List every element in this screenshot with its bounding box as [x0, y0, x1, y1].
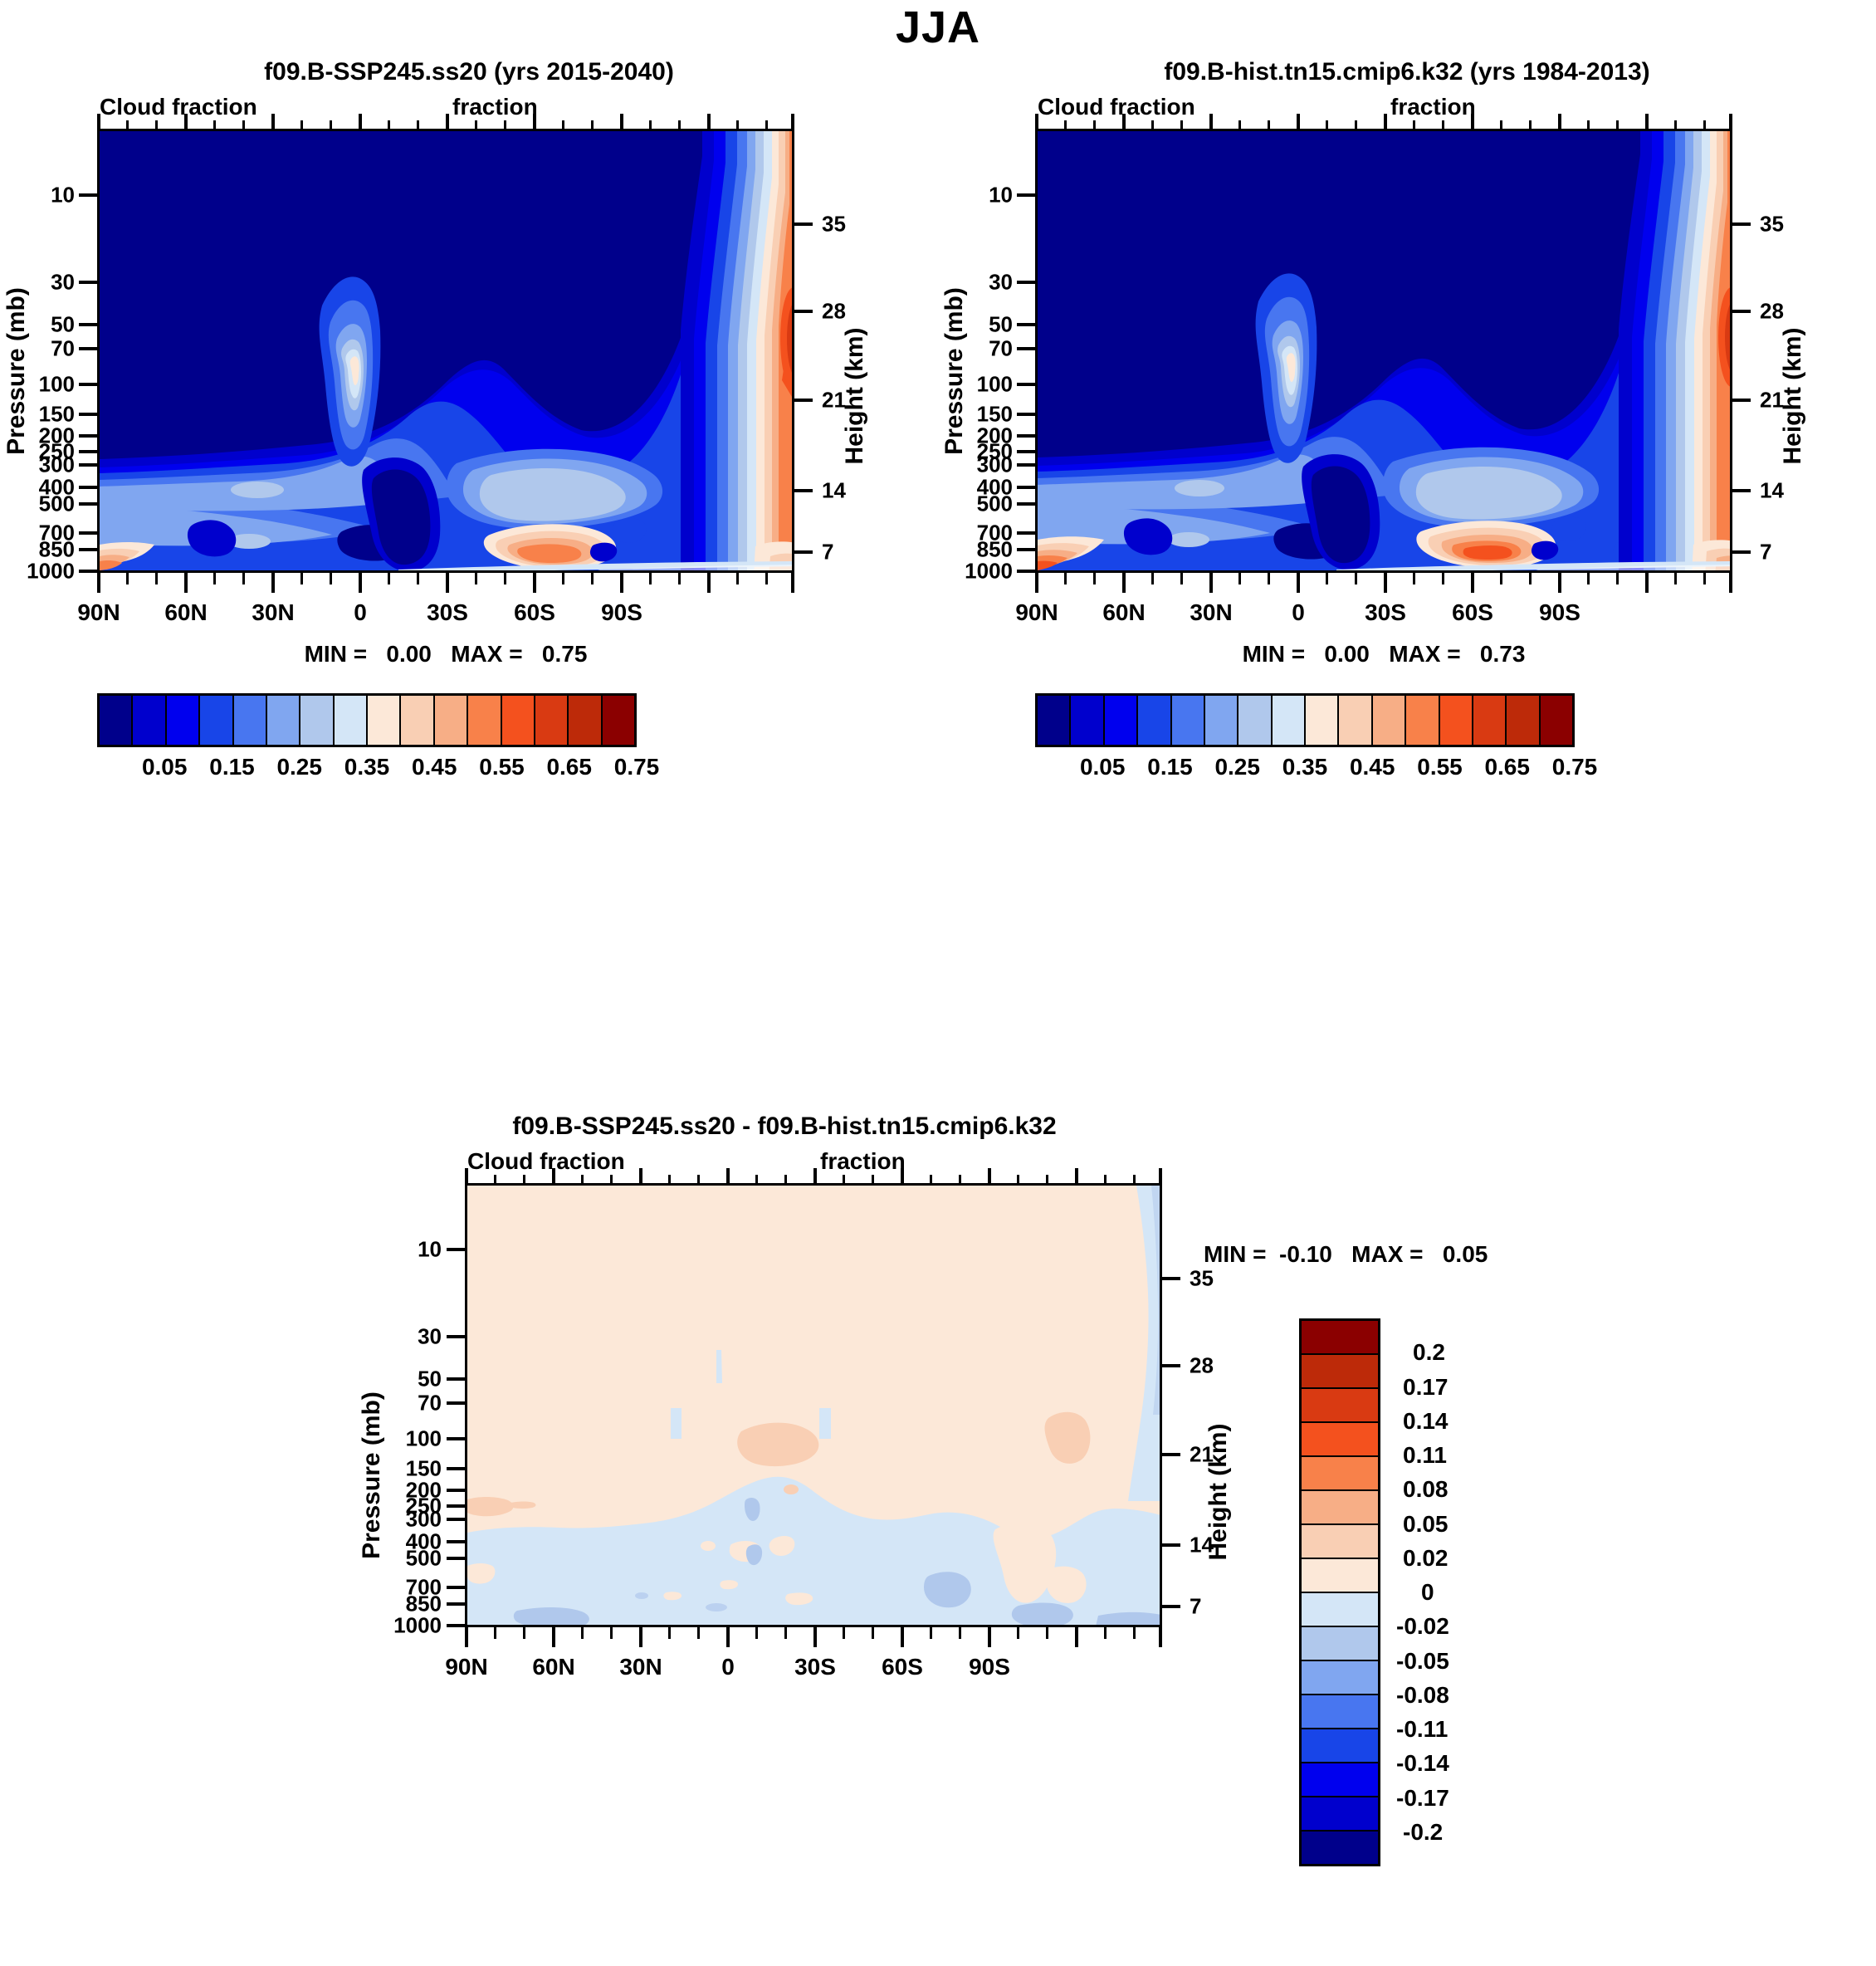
panel-difference-subtitle-units: fraction — [820, 1148, 906, 1175]
panel-right-plot[interactable] — [1035, 129, 1732, 573]
ytick-height-28: 28 — [1190, 1353, 1214, 1379]
cbar-label: 0.45 — [1350, 754, 1395, 780]
panel-difference-ylabel-height: Height (km) — [1204, 1367, 1233, 1616]
cbar-label: 0.15 — [1147, 754, 1193, 780]
cbar-label: 0.05 — [1080, 754, 1126, 780]
cbar-label: 0.65 — [1484, 754, 1530, 780]
ytick-height-14: 14 — [1760, 478, 1784, 504]
panel-difference-minmax: MIN = -0.10 MAX = 0.05 — [1204, 1241, 1668, 1268]
colorbar-cell — [1302, 1661, 1378, 1695]
ytick-height-21: 21 — [1190, 1442, 1214, 1468]
ytick-pressure-30: 30 — [940, 270, 1013, 296]
xtick-30S: 30S — [1365, 599, 1406, 626]
colorbar-cell — [468, 696, 501, 745]
panel-left-colorbar[interactable] — [97, 693, 637, 747]
cbar-label: 0.35 — [344, 754, 390, 780]
colorbar-cell — [569, 696, 602, 745]
ytick-pressure-70: 70 — [940, 336, 1013, 362]
colorbar-cell — [167, 696, 200, 745]
panel-difference-colorbar-labels: 0.2 0.17 0.14 0.11 0.08 0.05 0.02 0 -0.0… — [1395, 1318, 1527, 1866]
ytick-height-14: 14 — [1190, 1533, 1214, 1558]
panel-left-subtitle-variable: Cloud fraction — [100, 94, 257, 120]
ytick-pressure-1000: 1000 — [2, 559, 75, 584]
colorbar-cell — [335, 696, 368, 745]
colorbar-cell — [1038, 696, 1071, 745]
ytick-height-21: 21 — [822, 388, 846, 413]
colorbar-cell — [368, 696, 401, 745]
cbar-label: 0.17 — [1403, 1374, 1449, 1401]
colorbar-cell — [100, 696, 133, 745]
colorbar-cell — [1172, 696, 1205, 745]
colorbar-cell — [1406, 696, 1439, 745]
xtick-0: 0 — [721, 1654, 735, 1680]
xtick-0: 0 — [354, 599, 367, 626]
panel-right: f09.B-hist.tn15.cmip6.k32 (yrs 1984-2013… — [938, 50, 1876, 1137]
colorbar-cell — [1302, 1797, 1378, 1832]
cbar-label: 0.25 — [276, 754, 322, 780]
cbar-label: 0.35 — [1282, 754, 1328, 780]
cbar-label: 0.08 — [1403, 1476, 1449, 1503]
cbar-label: 0.05 — [1403, 1511, 1449, 1538]
panel-difference-title: f09.B-SSP245.ss20 - f09.B-hist.tn15.cmip… — [315, 1113, 1253, 1141]
panel-right-title: f09.B-hist.tn15.cmip6.k32 (yrs 1984-2013… — [938, 58, 1876, 86]
panel-left-colorbar-labels: 0.05 0.15 0.25 0.35 0.45 0.55 0.65 0.75 — [97, 754, 637, 787]
colorbar-cell — [1302, 1627, 1378, 1661]
colorbar-cell — [435, 696, 468, 745]
ytick-pressure-1000: 1000 — [317, 1613, 442, 1639]
ytick-pressure-50: 50 — [940, 312, 1013, 338]
colorbar-cell — [1507, 696, 1540, 745]
colorbar-cell — [535, 696, 569, 745]
colorbar-cell — [1138, 696, 1171, 745]
colorbar-cell — [200, 696, 233, 745]
xtick-60N: 60N — [164, 599, 207, 626]
colorbar-cell — [1302, 1593, 1378, 1627]
panel-right-ytick-labels: 10 30 50 70 100 150 200 250 300 400 500 … — [938, 50, 1013, 1137]
xtick-60N: 60N — [532, 1654, 574, 1680]
ytick-height-35: 35 — [1760, 212, 1784, 237]
panel-difference-plot[interactable] — [465, 1183, 1162, 1627]
colorbar-cell — [1302, 1355, 1378, 1389]
colorbar-cell — [1339, 696, 1372, 745]
xtick-60S: 60S — [514, 599, 555, 626]
colorbar-cell — [1302, 1321, 1378, 1355]
cbar-label: -0.11 — [1396, 1716, 1448, 1743]
panel-difference-colorbar[interactable] — [1299, 1318, 1380, 1866]
panel-difference-ytick-labels: 10 30 50 70 100 150 200 250 300 400 500 … — [315, 1104, 442, 1966]
colorbar-cell — [1302, 1491, 1378, 1525]
panel-right-contour-svg — [1038, 131, 1732, 573]
colorbar-cell — [502, 696, 535, 745]
ytick-pressure-70: 70 — [2, 336, 75, 362]
ytick-pressure-70: 70 — [317, 1391, 442, 1416]
ytick-pressure-50: 50 — [2, 312, 75, 338]
colorbar-cell — [1302, 1695, 1378, 1729]
panel-left-ytick-labels: 10 30 50 70 100 150 200 250 300 400 500 … — [0, 50, 75, 1137]
colorbar-cell — [1302, 1832, 1378, 1864]
xtick-60N: 60N — [1102, 599, 1145, 626]
colorbar-cell — [234, 696, 267, 745]
colorbar-cell — [133, 696, 166, 745]
ytick-pressure-30: 30 — [317, 1324, 442, 1350]
ytick-pressure-1000: 1000 — [940, 559, 1013, 584]
ytick-height-7: 7 — [822, 540, 833, 565]
colorbar-cell — [1302, 1525, 1378, 1559]
panel-right-colorbar-labels: 0.05 0.15 0.25 0.35 0.45 0.55 0.65 0.75 — [1035, 754, 1575, 787]
ytick-pressure-10: 10 — [940, 183, 1013, 208]
ytick-pressure-500: 500 — [940, 491, 1013, 517]
ytick-pressure-500: 500 — [2, 491, 75, 517]
xtick-0: 0 — [1292, 599, 1305, 626]
colorbar-cell — [1302, 1559, 1378, 1593]
ytick-pressure-100: 100 — [317, 1426, 442, 1452]
xtick-30S: 30S — [427, 599, 468, 626]
xtick-30N: 30N — [619, 1654, 662, 1680]
figure-root: JJA f09.B-SSP245.ss20 (yrs 2015-2040) Cl… — [0, 0, 1876, 1966]
cbar-label: -0.08 — [1396, 1682, 1449, 1709]
panel-left-contour-svg — [100, 131, 794, 573]
colorbar-cell — [603, 696, 634, 745]
colorbar-cell — [1302, 1457, 1378, 1491]
xtick-90S: 90S — [601, 599, 642, 626]
colorbar-cell — [401, 696, 434, 745]
colorbar-cell — [1105, 696, 1138, 745]
xtick-30N: 30N — [252, 599, 294, 626]
cbar-label: 0.55 — [479, 754, 525, 780]
global-title: JJA — [0, 2, 1876, 53]
ytick-pressure-50: 50 — [317, 1367, 442, 1392]
xtick-90S: 90S — [969, 1654, 1010, 1680]
ytick-height-7: 7 — [1190, 1594, 1201, 1620]
cbar-label: 0.14 — [1403, 1408, 1449, 1435]
colorbar-cell — [1306, 696, 1339, 745]
cbar-label: 0.2 — [1413, 1339, 1445, 1366]
ytick-pressure-30: 30 — [2, 270, 75, 296]
cbar-label: 0.05 — [142, 754, 188, 780]
cbar-label: -0.17 — [1396, 1785, 1449, 1812]
ytick-pressure-100: 100 — [2, 372, 75, 398]
ytick-height-28: 28 — [1760, 299, 1784, 325]
colorbar-cell — [300, 696, 334, 745]
cbar-label: 0.02 — [1403, 1545, 1449, 1572]
colorbar-cell — [1273, 696, 1306, 745]
xtick-90N: 90N — [77, 599, 120, 626]
panel-difference-subtitle-variable: Cloud fraction — [467, 1148, 625, 1175]
panel-right-colorbar[interactable] — [1035, 693, 1575, 747]
panel-left-minmax: MIN = 0.00 MAX = 0.75 — [97, 641, 794, 668]
colorbar-cell — [1373, 696, 1406, 745]
ytick-pressure-10: 10 — [2, 183, 75, 208]
colorbar-cell — [1440, 696, 1473, 745]
panel-left: f09.B-SSP245.ss20 (yrs 2015-2040) Cloud … — [0, 50, 938, 1137]
colorbar-cell — [1071, 696, 1104, 745]
colorbar-cell — [1302, 1729, 1378, 1763]
cbar-label: 0.75 — [614, 754, 660, 780]
ytick-height-28: 28 — [822, 299, 846, 325]
xtick-90N: 90N — [445, 1654, 487, 1680]
ytick-height-21: 21 — [1760, 388, 1784, 413]
ytick-height-35: 35 — [1190, 1266, 1214, 1292]
colorbar-cell — [1302, 1763, 1378, 1797]
cbar-label: 0.55 — [1417, 754, 1463, 780]
ytick-pressure-500: 500 — [317, 1546, 442, 1572]
ytick-pressure-10: 10 — [317, 1237, 442, 1263]
panel-right-minmax: MIN = 0.00 MAX = 0.73 — [1035, 641, 1732, 668]
colorbar-cell — [1473, 696, 1507, 745]
cbar-label: -0.05 — [1396, 1648, 1449, 1675]
panel-difference: f09.B-SSP245.ss20 - f09.B-hist.tn15.cmip… — [315, 1104, 1253, 1966]
xtick-30S: 30S — [794, 1654, 836, 1680]
ytick-height-14: 14 — [822, 478, 846, 504]
xtick-60S: 60S — [882, 1654, 923, 1680]
ytick-pressure-100: 100 — [940, 372, 1013, 398]
cbar-label: 0.45 — [412, 754, 457, 780]
colorbar-cell — [1238, 696, 1272, 745]
xtick-30N: 30N — [1190, 599, 1232, 626]
xtick-90N: 90N — [1015, 599, 1058, 626]
cbar-label: -0.02 — [1396, 1613, 1449, 1640]
xtick-90S: 90S — [1539, 599, 1580, 626]
colorbar-cell — [1302, 1423, 1378, 1457]
colorbar-cell — [1541, 696, 1572, 745]
panel-difference-contour-svg — [467, 1186, 1162, 1627]
cbar-label: 0.75 — [1552, 754, 1598, 780]
cbar-label: 0.65 — [546, 754, 592, 780]
panel-left-plot[interactable] — [97, 129, 794, 573]
cbar-label: -0.14 — [1396, 1750, 1449, 1777]
colorbar-cell — [267, 696, 300, 745]
cbar-label: -0.2 — [1403, 1819, 1443, 1846]
ytick-height-7: 7 — [1760, 540, 1771, 565]
ytick-height-35: 35 — [822, 212, 846, 237]
panel-right-subtitle-units: fraction — [1390, 94, 1476, 120]
cbar-label: 0 — [1421, 1579, 1434, 1606]
panel-right-subtitle-variable: Cloud fraction — [1038, 94, 1195, 120]
xtick-60S: 60S — [1452, 599, 1493, 626]
cbar-label: 0.11 — [1403, 1442, 1447, 1469]
panel-left-title: f09.B-SSP245.ss20 (yrs 2015-2040) — [0, 58, 938, 86]
cbar-label: 0.25 — [1214, 754, 1260, 780]
colorbar-cell — [1205, 696, 1238, 745]
colorbar-cell — [1302, 1389, 1378, 1423]
panel-left-subtitle-units: fraction — [452, 94, 538, 120]
cbar-label: 0.15 — [209, 754, 255, 780]
